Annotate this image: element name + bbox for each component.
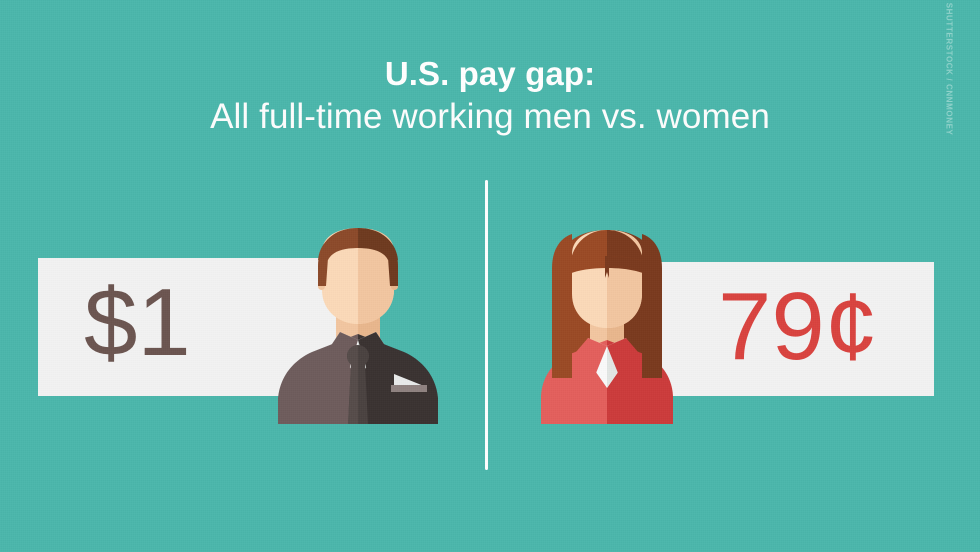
center-divider [485, 180, 488, 470]
businesswoman-icon [514, 228, 700, 424]
infographic-canvas: $1 79¢ [0, 0, 980, 552]
businessman-icon [258, 228, 458, 424]
title-line-primary: U.S. pay gap: [0, 54, 980, 94]
women-pay-value: 79¢ [718, 279, 878, 375]
title-line-secondary: All full-time working men vs. women [0, 94, 980, 140]
chart-title: U.S. pay gap: All full-time working men … [0, 54, 980, 140]
men-pay-value: $1 [84, 275, 191, 371]
image-credit: SHUTTERSTOCK / CNNMONEY [945, 0, 954, 136]
